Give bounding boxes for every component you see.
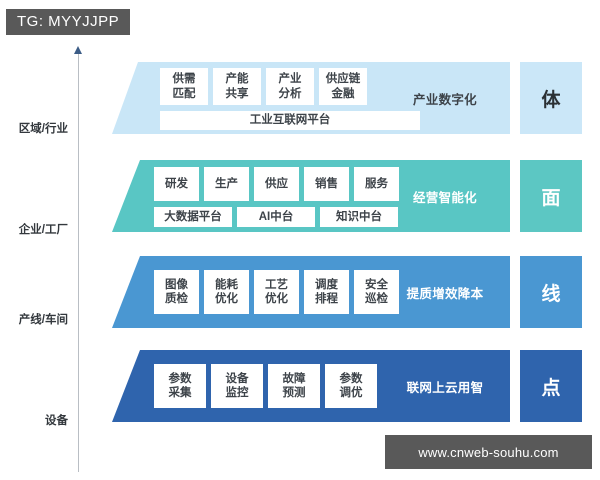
band-theme-4: 联网上云用智 bbox=[390, 350, 500, 422]
band-cap-1: 体 bbox=[520, 62, 582, 134]
tile-group-top-1: 供需 匹配 产能 共享 产业 分析 供应链 金融 bbox=[160, 68, 367, 105]
tile-supply[interactable]: 供应 bbox=[254, 167, 299, 201]
tile-bigdata-platform[interactable]: 大数据平台 bbox=[154, 207, 232, 227]
band-row-quality-efficiency-cost: 提质增效降本 线 图像 质检 能耗 优化 工艺 优化 调度 排程 安全 巡检 bbox=[112, 256, 582, 328]
band-cap-2: 面 bbox=[520, 160, 582, 232]
tile-process-optimization[interactable]: 工艺 优化 bbox=[254, 270, 299, 314]
tile-group-bottom-2: 大数据平台 AI中台 知识中台 bbox=[154, 207, 398, 227]
tile-production[interactable]: 生产 bbox=[204, 167, 249, 201]
tile-supply-demand-match[interactable]: 供需 匹配 bbox=[160, 68, 208, 105]
axis-arrow-icon bbox=[74, 46, 82, 54]
tile-fault-prediction[interactable]: 故障 预测 bbox=[268, 364, 320, 408]
vertical-axis-line bbox=[78, 52, 79, 472]
band-cap-4: 点 bbox=[520, 350, 582, 422]
tile-knowledge-midplatform[interactable]: 知识中台 bbox=[320, 207, 398, 227]
tile-group-top-4: 参数 采集 设备 监控 故障 预测 参数 调优 bbox=[154, 364, 377, 408]
tile-group-bottom-1: 工业互联网平台 bbox=[160, 111, 420, 130]
watermark-url: www.cnweb-souhu.com bbox=[385, 435, 592, 469]
band-theme-3: 提质增效降本 bbox=[390, 256, 500, 328]
tile-rnd[interactable]: 研发 bbox=[154, 167, 199, 201]
band-row-industry-digitalization: 产业数字化 体 供需 匹配 产能 共享 产业 分析 供应链 金融 工业互联网平台 bbox=[112, 62, 582, 134]
tile-scheduling[interactable]: 调度 排程 bbox=[304, 270, 349, 314]
tile-group-top-3: 图像 质检 能耗 优化 工艺 优化 调度 排程 安全 巡检 bbox=[154, 270, 399, 314]
tile-industrial-internet-platform[interactable]: 工业互联网平台 bbox=[160, 111, 420, 130]
band-row-connect-cloud-intelligence: 联网上云用智 点 参数 采集 设备 监控 故障 预测 参数 调优 bbox=[112, 350, 582, 422]
tile-ai-midplatform[interactable]: AI中台 bbox=[237, 207, 315, 227]
tile-energy-optimization[interactable]: 能耗 优化 bbox=[204, 270, 249, 314]
tile-safety-inspection[interactable]: 安全 巡检 bbox=[354, 270, 399, 314]
tile-supply-chain-finance[interactable]: 供应链 金融 bbox=[319, 68, 367, 105]
tile-capacity-sharing[interactable]: 产能 共享 bbox=[213, 68, 261, 105]
tile-image-quality-inspection[interactable]: 图像 质检 bbox=[154, 270, 199, 314]
tile-parameter-tuning[interactable]: 参数 调优 bbox=[325, 364, 377, 408]
tile-sales[interactable]: 销售 bbox=[304, 167, 349, 201]
band-cap-3: 线 bbox=[520, 256, 582, 328]
axis-label-device: 设备 bbox=[0, 412, 68, 428]
source-tag-badge: TG: MYYJJPP bbox=[6, 9, 130, 35]
band-row-operation-intelligence: 经营智能化 面 研发 生产 供应 销售 服务 大数据平台 AI中台 知识中台 bbox=[112, 160, 582, 232]
band-theme-2: 经营智能化 bbox=[390, 160, 500, 232]
tile-service[interactable]: 服务 bbox=[354, 167, 399, 201]
tile-group-top-2: 研发 生产 供应 销售 服务 bbox=[154, 167, 399, 201]
tile-device-monitoring[interactable]: 设备 监控 bbox=[211, 364, 263, 408]
tile-industry-analysis[interactable]: 产业 分析 bbox=[266, 68, 314, 105]
axis-label-enterprise-factory: 企业/工厂 bbox=[0, 221, 68, 237]
axis-label-region-industry: 区域/行业 bbox=[0, 120, 68, 136]
tile-parameter-collection[interactable]: 参数 采集 bbox=[154, 364, 206, 408]
axis-label-line-workshop: 产线/车间 bbox=[0, 311, 68, 327]
